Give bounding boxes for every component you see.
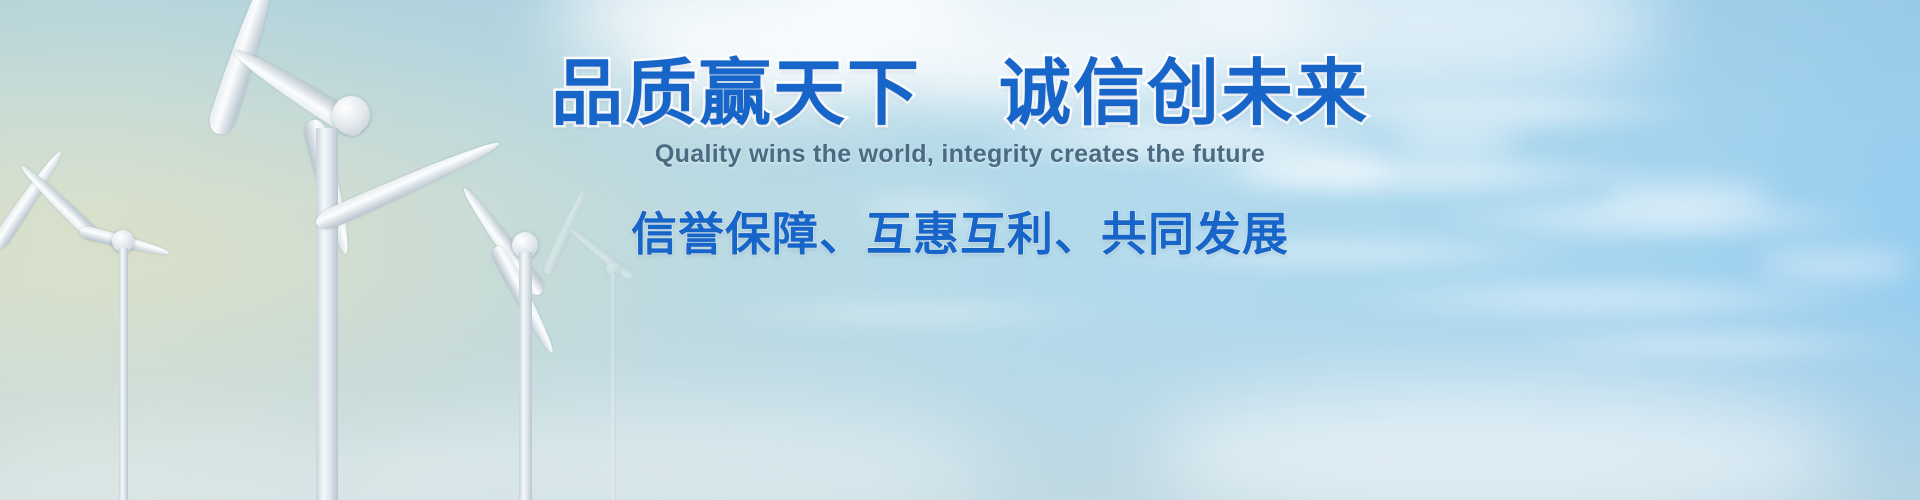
banner-tagline: 信誉保障、互惠互利、共同发展: [0, 198, 1920, 264]
banner-copy: 品质赢天下 诚信创未来 Quality wins the world, inte…: [0, 0, 1920, 500]
promo-banner: 品质赢天下 诚信创未来 Quality wins the world, inte…: [0, 0, 1920, 500]
banner-headline: 品质赢天下 诚信创未来: [0, 58, 1920, 130]
headline-part-left: 品质赢天下: [551, 54, 921, 134]
banner-subtitle-english: Quality wins the world, integrity create…: [0, 140, 1920, 169]
headline-part-right: 诚信创未来: [999, 54, 1369, 134]
